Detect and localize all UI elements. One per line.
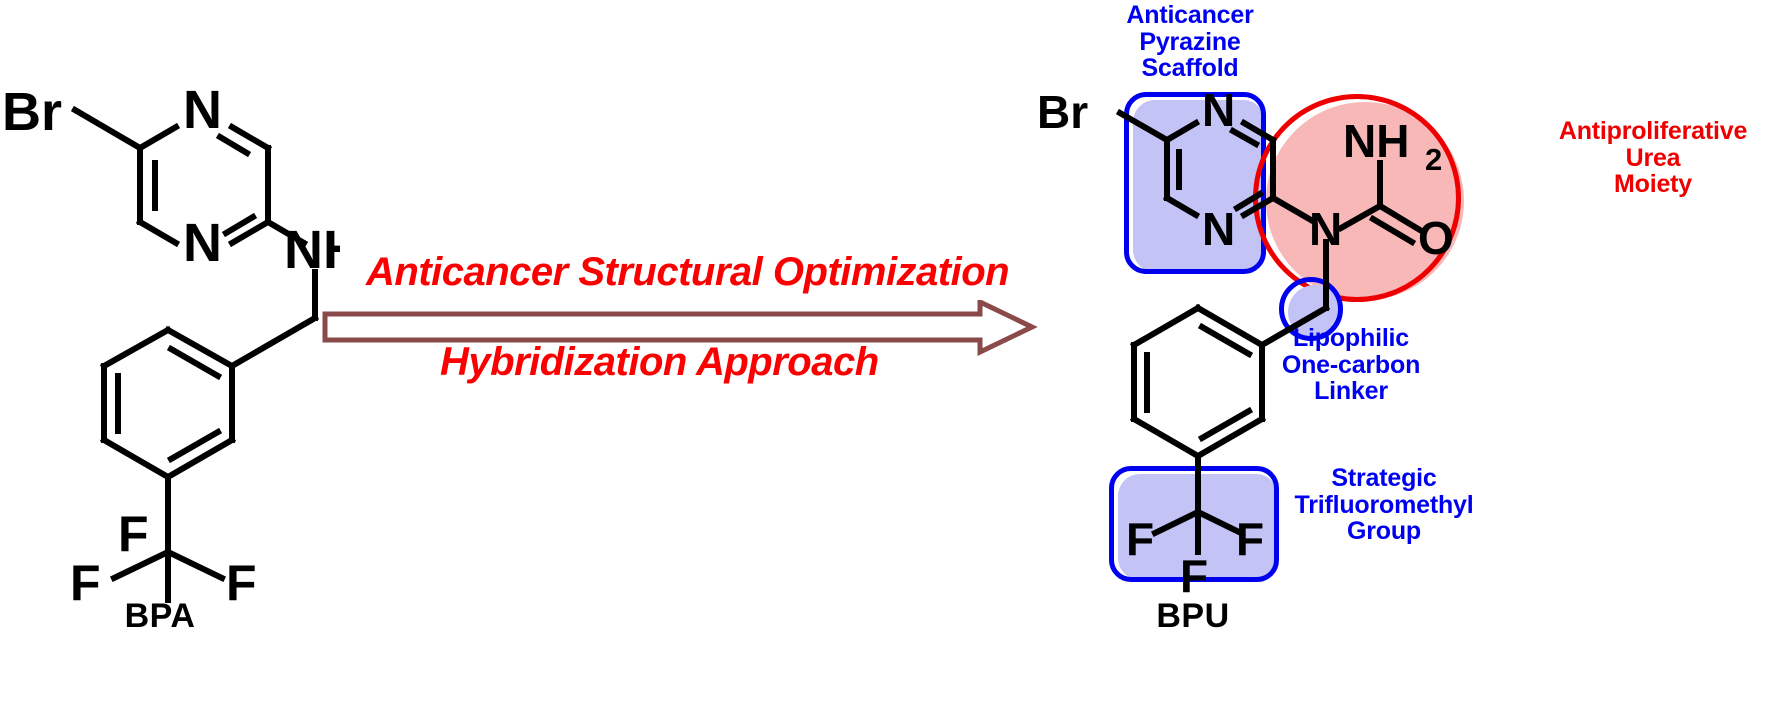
- atom-label-f-right: F: [226, 555, 257, 610]
- left-structure-benzene-cf3: F F: [40, 280, 340, 610]
- atom-label-n-top: N: [1202, 84, 1235, 136]
- atom-label-urea-n: N: [1309, 203, 1342, 255]
- compound-name-bpu: BPU: [1118, 598, 1268, 634]
- atom-label-nh: NH: [284, 220, 340, 280]
- atom-label-f-right: F: [1236, 513, 1264, 565]
- optimization-line-1: Anticancer Structural Optimization: [366, 250, 1009, 295]
- annotation-pyrazine-scaffold: Anticancer Pyrazine Scaffold: [1110, 2, 1270, 82]
- compound-name-bpa: BPA: [90, 598, 230, 634]
- annotation-urea-moiety: Antiproliferative Urea Moiety: [1540, 118, 1766, 198]
- atom-label-n-bottom: N: [183, 213, 222, 273]
- figure-canvas: Br N N NH: [0, 0, 1768, 725]
- atom-label-nh2-subscript: 2: [1425, 142, 1442, 177]
- atom-label-nh2: NH: [1343, 115, 1409, 167]
- atom-label-n-top: N: [183, 80, 222, 140]
- annotation-linker: Lipophilic One-carbon Linker: [1268, 325, 1434, 405]
- atom-label-f-left: F: [1126, 513, 1154, 565]
- atom-label-br: Br: [1037, 86, 1088, 138]
- atom-label-br: Br: [2, 82, 62, 142]
- optimization-line-2: Hybridization Approach: [440, 340, 879, 385]
- atom-label-f-bottom: F: [1180, 550, 1208, 600]
- atom-label-n-bottom: N: [1202, 203, 1235, 255]
- annotation-trifluoromethyl: Strategic Trifluoromethyl Group: [1288, 465, 1480, 545]
- atom-label-urea-o: O: [1418, 212, 1454, 264]
- atom-label-f-bottom-left: F: [118, 505, 149, 563]
